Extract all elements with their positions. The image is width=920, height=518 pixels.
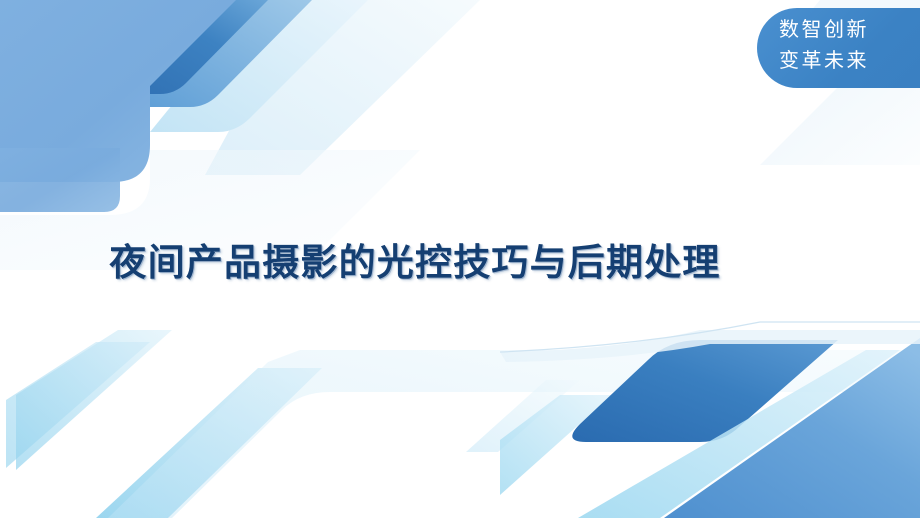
badge-line-2: 变革未来 (779, 46, 920, 77)
badge-line-1: 数智创新 (779, 15, 920, 46)
badge-slogan: 数智创新 变革未来 (757, 8, 920, 88)
shape-bottomleft-band-2 (6, 342, 150, 468)
title-container: 夜间产品摄影的光控技巧与后期处理 (0, 232, 830, 286)
page-title: 夜间产品摄影的光控技巧与后期处理 (109, 232, 720, 286)
slide-canvas: 数智创新 变革未来 夜间产品摄影的光控技巧与后期处理 (0, 0, 920, 518)
shape-top-second-plate (0, 148, 120, 212)
